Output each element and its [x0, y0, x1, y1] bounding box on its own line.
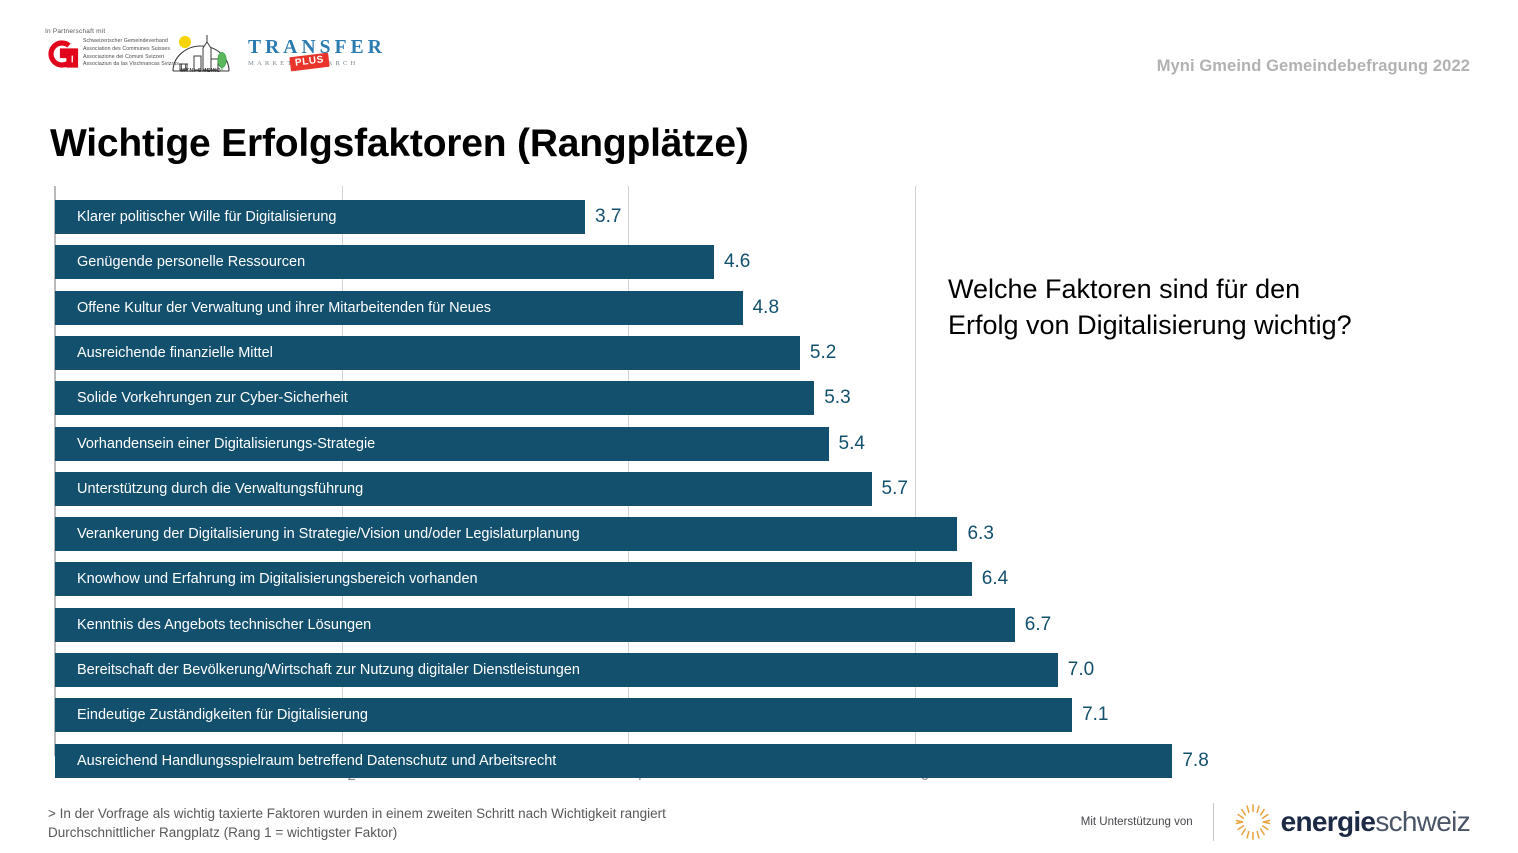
- sun-rays-icon: [1234, 803, 1272, 841]
- gv-line-de: Schweizerischer Gemeindeverband: [83, 38, 179, 46]
- myni-gmeind-wordmark: MYNI GMEIND: [170, 68, 232, 74]
- bar-row[interactable]: Unterstützung durch die Verwaltungsführu…: [55, 472, 1235, 506]
- question-line-2: Erfolg von Digitalisierung wichtig?: [948, 308, 1468, 344]
- bar-row[interactable]: Vorhandensein einer Digitalisierungs-Str…: [55, 427, 1235, 461]
- bar-category-label: Knowhow und Erfahrung im Digitalisierung…: [77, 562, 478, 596]
- gv-line-it: Associazione dei Comuni Svizzeri: [83, 54, 179, 62]
- partner-logos: In Partnerschaft mit Schweizerischer Gem…: [45, 28, 170, 69]
- bar-row[interactable]: Knowhow und Erfahrung im Digitalisierung…: [55, 562, 1235, 596]
- bar-value-label: 5.7: [882, 472, 908, 506]
- gv-line-fr: Association des Communes Suisses: [83, 46, 179, 54]
- bar-row[interactable]: Verankerung der Digitalisierung in Strat…: [55, 517, 1235, 551]
- slide-canvas: In Partnerschaft mit Schweizerischer Gem…: [0, 0, 1518, 853]
- question-line-1: Welche Faktoren sind für den: [948, 272, 1468, 308]
- gemeindeverband-logo: In Partnerschaft mit Schweizerischer Gem…: [45, 28, 170, 69]
- bar-value-label: 6.4: [982, 562, 1008, 596]
- energieschweiz-wordmark: energieschweiz: [1281, 806, 1470, 838]
- bar-category-label: Ausreichende finanzielle Mittel: [77, 336, 273, 370]
- bar-row[interactable]: Eindeutige Zuständigkeiten für Digitalis…: [55, 698, 1235, 732]
- bar-value-label: 6.3: [967, 517, 993, 551]
- bar-value-label: 7.1: [1082, 698, 1108, 732]
- gemeindeverband-g-mark: [45, 39, 79, 69]
- bar-row[interactable]: Klarer politischer Wille für Digitalisie…: [55, 200, 1235, 234]
- bar-value-label: 4.6: [724, 245, 750, 279]
- energieschweiz-light: schweiz: [1375, 806, 1470, 837]
- support-divider: [1213, 803, 1214, 841]
- deck-title: Myni Gmeind Gemeindebefragung 2022: [1157, 57, 1470, 76]
- bar-row[interactable]: Solide Vorkehrungen zur Cyber-Sicherheit…: [55, 381, 1235, 415]
- transfer-plus-logo: TRANSFER MARKET RESEARCH PLUS: [248, 38, 378, 67]
- bar-value-label: 6.7: [1025, 608, 1051, 642]
- bar-category-label: Vorhandensein einer Digitalisierungs-Str…: [77, 427, 375, 461]
- partner-caption: In Partnerschaft mit: [45, 28, 170, 35]
- bar-category-label: Ausreichend Handlungsspielraum betreffen…: [77, 744, 556, 778]
- bar-row[interactable]: Kenntnis des Angebots technischer Lösung…: [55, 608, 1235, 642]
- bar-value-label: 7.0: [1068, 653, 1094, 687]
- bar-value-label: 7.8: [1182, 744, 1208, 778]
- bar-value-label: 5.4: [839, 427, 865, 461]
- bar-category-label: Verankerung der Digitalisierung in Strat…: [77, 517, 580, 551]
- footnote: > In der Vorfrage als wichtig taxierte F…: [48, 804, 828, 842]
- bar-category-label: Klarer politischer Wille für Digitalisie…: [77, 200, 336, 234]
- bar-category-label: Eindeutige Zuständigkeiten für Digitalis…: [77, 698, 368, 732]
- bar-category-label: Offene Kultur der Verwaltung und ihrer M…: [77, 291, 491, 325]
- gv-line-rm: Associaziun da las Vischnancas Svizras: [83, 61, 179, 69]
- footnote-line-2: Durchschnittlicher Rangplatz (Rang 1 = w…: [48, 823, 828, 842]
- support-text: Mit Unterstützung von: [1081, 816, 1193, 828]
- bar-value-label: 5.3: [824, 381, 850, 415]
- energieschweiz-logo: energieschweiz: [1234, 803, 1470, 841]
- bar-value-label: 3.7: [595, 200, 621, 234]
- bar-row[interactable]: Ausreichend Handlungsspielraum betreffen…: [55, 744, 1235, 778]
- bar-row[interactable]: Bereitschaft der Bevölkerung/Wirtschaft …: [55, 653, 1235, 687]
- gemeindeverband-names: Schweizerischer Gemeindeverband Associat…: [83, 38, 179, 69]
- bar-category-label: Solide Vorkehrungen zur Cyber-Sicherheit: [77, 381, 348, 415]
- bar-category-label: Bereitschaft der Bevölkerung/Wirtschaft …: [77, 653, 580, 687]
- energieschweiz-bold: energie: [1281, 806, 1376, 837]
- question-callout: Welche Faktoren sind für den Erfolg von …: [948, 272, 1468, 343]
- bar-category-label: Kenntnis des Angebots technischer Lösung…: [77, 608, 371, 642]
- support-footer: Mit Unterstützung von: [1081, 803, 1470, 841]
- page-title: Wichtige Erfolgsfaktoren (Rangplätze): [50, 122, 749, 166]
- footnote-line-1: > In der Vorfrage als wichtig taxierte F…: [48, 804, 828, 823]
- bar-value-label: 4.8: [753, 291, 779, 325]
- bar-category-label: Unterstützung durch die Verwaltungsführu…: [77, 472, 363, 506]
- bar-category-label: Genügende personelle Ressourcen: [77, 245, 305, 279]
- bar-value-label: 5.2: [810, 336, 836, 370]
